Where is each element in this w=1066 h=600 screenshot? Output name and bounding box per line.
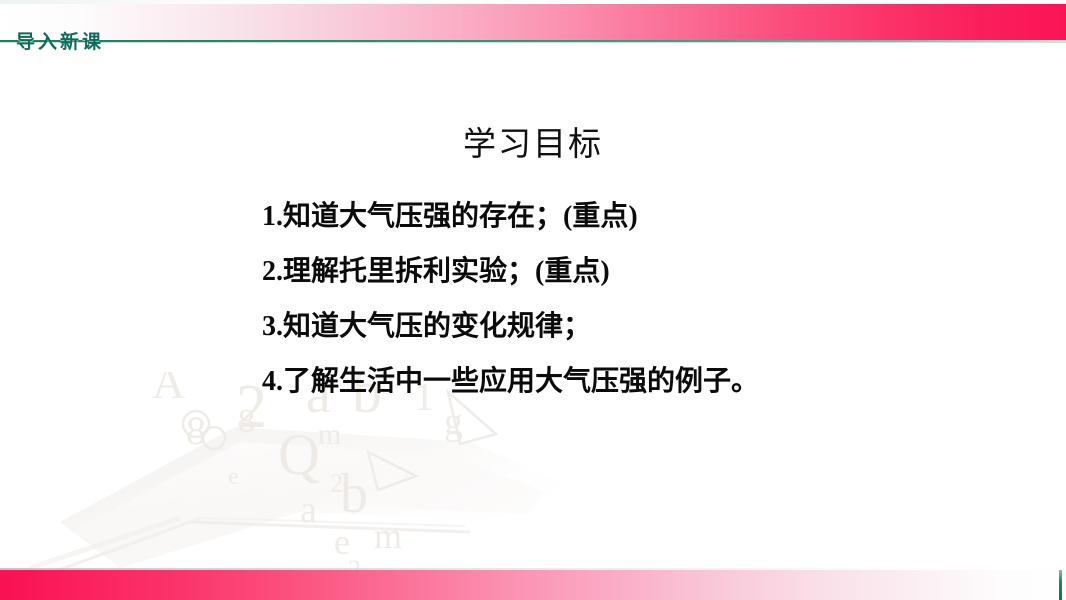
- svg-text:g: g: [444, 401, 463, 443]
- svg-text:a: a: [300, 489, 317, 531]
- svg-text:b: b: [340, 463, 368, 525]
- objective-item-1: 1.知道大气压强的存在；(重点): [262, 203, 1002, 231]
- objective-item-2: 2.理解托里拆利实验；(重点): [262, 258, 1002, 286]
- bottom-gradient-band: [0, 570, 1066, 600]
- svg-text:m: m: [318, 418, 341, 451]
- open-book-math-symbols-watermark: A 2 a b 1 m 2 8 8 Q b a e m 2 g e: [0, 372, 640, 582]
- top-gradient-band: [0, 4, 1066, 40]
- objectives-list: 1.知道大气压强的存在；(重点) 2.理解托里拆利实验；(重点) 3.知道大气压…: [262, 203, 1002, 396]
- svg-text:Q: Q: [278, 422, 320, 487]
- svg-text:e: e: [334, 522, 350, 562]
- section-label: 导入新课: [16, 33, 104, 52]
- svg-text:8: 8: [238, 403, 255, 440]
- svg-text:m: m: [374, 516, 402, 556]
- slide-canvas: A 2 a b 1 m 2 8 8 Q b a e m 2 g e: [0, 0, 1066, 600]
- svg-text:2: 2: [330, 469, 343, 498]
- objective-item-3: 3.知道大气压的变化规律；: [262, 313, 1002, 341]
- bottom-right-green-tick: [1059, 570, 1062, 600]
- svg-text:8: 8: [186, 408, 206, 453]
- svg-text:e: e: [228, 464, 239, 490]
- page-title: 学习目标: [0, 124, 1066, 164]
- objective-item-4: 4.了解生活中一些应用大气压强的例子。: [262, 368, 1002, 396]
- header-divider-shadow: [0, 42, 1066, 43]
- svg-text:A: A: [152, 372, 185, 408]
